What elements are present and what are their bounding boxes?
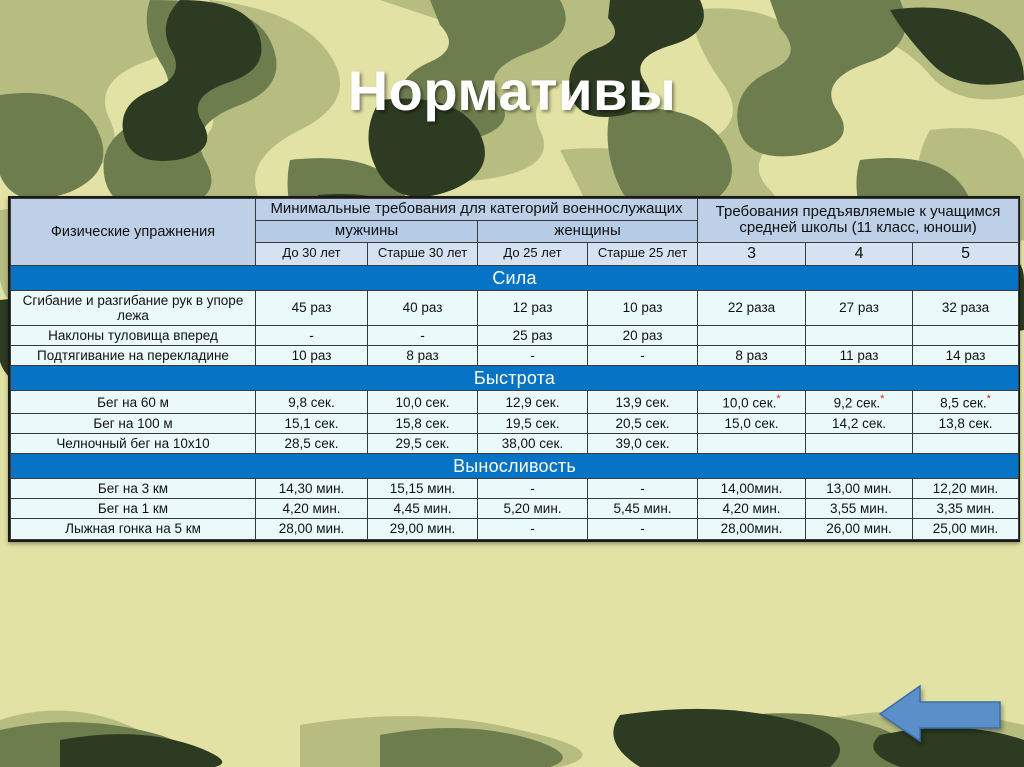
value-text: - — [530, 521, 535, 536]
value-text: 10,0 сек. — [396, 395, 450, 410]
value-cell: 12 раз — [478, 290, 588, 325]
value-text: 13,00 мин. — [826, 481, 892, 496]
value-text: 14 раз — [946, 348, 986, 363]
value-text: 11 раз — [840, 348, 879, 363]
value-text: 12 раз — [513, 300, 553, 315]
value-text: - — [640, 481, 645, 496]
value-text: 8 раз — [406, 348, 438, 363]
exercise-label: Бег на 3 км — [11, 479, 256, 499]
value-cell: 15,0 сек. — [698, 413, 806, 433]
value-cell: 11 раз — [806, 345, 913, 365]
value-cell: 39,0 сек. — [588, 433, 698, 453]
value-cell: 4,20 мин. — [698, 499, 806, 519]
header-age-men-old: Старше 30 лет — [368, 242, 478, 265]
value-text: 25 раз — [513, 328, 553, 343]
value-cell: 14,00мин. — [698, 479, 806, 499]
value-cell: 28,00 мин. — [256, 519, 368, 539]
value-text: 38,00 сек. — [502, 436, 563, 451]
value-text: 14,30 мин. — [279, 481, 345, 496]
value-cell: 25 раз — [478, 325, 588, 345]
value-text: - — [309, 328, 314, 343]
value-cell: 9,2 сек.* — [806, 391, 913, 414]
exercise-label: Бег на 100 м — [11, 413, 256, 433]
value-cell: 28,00мин. — [698, 519, 806, 539]
table-body: СилаСгибание и разгибание рук в упоре ле… — [11, 265, 1019, 539]
value-cell: - — [588, 345, 698, 365]
value-cell: 12,20 мин. — [913, 479, 1019, 499]
value-cell: - — [368, 325, 478, 345]
value-cell: 40 раз — [368, 290, 478, 325]
table-row: Лыжная гонка на 5 км28,00 мин.29,00 мин.… — [11, 519, 1019, 539]
asterisk-marker: * — [987, 393, 991, 405]
value-text: 22 раза — [728, 300, 775, 315]
title-container: Нормативы — [0, 58, 1024, 123]
value-text: 10 раз — [292, 348, 332, 363]
value-text: 15,0 сек. — [725, 416, 779, 431]
left-arrow-icon — [878, 684, 1002, 742]
exercise-label: Лыжная гонка на 5 км — [11, 519, 256, 539]
header-exercises: Физические упражнения — [11, 199, 256, 266]
value-cell: 13,8 сек. — [913, 413, 1019, 433]
value-cell: 15,15 мин. — [368, 479, 478, 499]
value-text: 4,20 мин. — [723, 501, 781, 516]
value-cell-empty — [913, 433, 1019, 453]
exercise-label: Бег на 60 м — [11, 391, 256, 414]
value-text: 19,5 сек. — [506, 416, 560, 431]
value-cell: 8,5 сек.* — [913, 391, 1019, 414]
value-text: - — [530, 481, 535, 496]
header-grade-3: 3 — [698, 242, 806, 265]
value-text: 13,8 сек. — [939, 416, 993, 431]
value-cell: 45 раз — [256, 290, 368, 325]
exercise-label: Бег на 1 км — [11, 499, 256, 519]
value-text: 5,45 мин. — [613, 501, 671, 516]
value-text: 13,9 сек. — [616, 395, 670, 410]
header-sex-women: женщины — [478, 220, 698, 242]
value-cell: 10,0 сек.* — [698, 391, 806, 414]
value-cell: - — [588, 519, 698, 539]
value-text: 10,0 сек. — [722, 396, 776, 411]
value-cell: 14,30 мин. — [256, 479, 368, 499]
value-cell: 13,9 сек. — [588, 391, 698, 414]
value-cell: 3,35 мин. — [913, 499, 1019, 519]
value-text: 14,2 сек. — [832, 416, 886, 431]
value-text: 8 раз — [735, 348, 767, 363]
header-age-men-young: До 30 лет — [256, 242, 368, 265]
header-age-women-young: До 25 лет — [478, 242, 588, 265]
value-cell: 20,5 сек. — [588, 413, 698, 433]
value-cell-empty — [806, 433, 913, 453]
section-title: Выносливость — [11, 454, 1019, 479]
value-cell: 27 раз — [806, 290, 913, 325]
table-row: Бег на 3 км14,30 мин.15,15 мин.--14,00ми… — [11, 479, 1019, 499]
value-cell: 38,00 сек. — [478, 433, 588, 453]
value-cell: - — [256, 325, 368, 345]
value-text: 15,1 сек. — [285, 416, 339, 431]
value-text: 27 раз — [839, 300, 879, 315]
value-text: - — [640, 521, 645, 536]
value-text: 32 раза — [942, 300, 989, 315]
value-text: - — [530, 348, 535, 363]
value-cell: 29,00 мин. — [368, 519, 478, 539]
value-text: 4,45 мин. — [393, 501, 451, 516]
standards-table-container: Физические упражнения Минимальные требов… — [8, 196, 1020, 542]
value-cell: 26,00 мин. — [806, 519, 913, 539]
value-text: 28,5 сек. — [285, 436, 339, 451]
section-band-row: Быстрота — [11, 366, 1019, 391]
value-text: 15,15 мин. — [390, 481, 456, 496]
section-band-row: Сила — [11, 265, 1019, 290]
page-title: Нормативы — [348, 58, 677, 123]
value-text: 12,20 мин. — [933, 481, 999, 496]
header-group-school: Требования предъявляемые к учащимся сред… — [698, 199, 1019, 243]
exercise-label: Челночный бег на 10x10 — [11, 433, 256, 453]
value-cell: - — [478, 479, 588, 499]
header-row-groups: Физические упражнения Минимальные требов… — [11, 199, 1019, 221]
header-grade-5: 5 — [913, 242, 1019, 265]
value-cell: 32 раза — [913, 290, 1019, 325]
table-row: Сгибание и разгибание рук в упоре лежа45… — [11, 290, 1019, 325]
table-row: Наклоны туловища вперед--25 раз20 раз — [11, 325, 1019, 345]
value-cell: - — [588, 479, 698, 499]
table-row: Подтягивание на перекладине10 раз8 раз--… — [11, 345, 1019, 365]
value-text: 26,00 мин. — [826, 521, 892, 536]
value-cell: 15,1 сек. — [256, 413, 368, 433]
value-text: 9,8 сек. — [288, 395, 334, 410]
value-cell: 14,2 сек. — [806, 413, 913, 433]
table-row: Бег на 1 км4,20 мин.4,45 мин.5,20 мин.5,… — [11, 499, 1019, 519]
value-text: 28,00 мин. — [279, 521, 345, 536]
value-text: 12,9 сек. — [506, 395, 560, 410]
table-row: Челночный бег на 10x1028,5 сек.29,5 сек.… — [11, 433, 1019, 453]
table-header: Физические упражнения Минимальные требов… — [11, 199, 1019, 266]
value-text: - — [420, 328, 425, 343]
value-cell: 5,45 мин. — [588, 499, 698, 519]
value-text: 20 раз — [623, 328, 663, 343]
header-age-women-old: Старше 25 лет — [588, 242, 698, 265]
value-cell: 10 раз — [588, 290, 698, 325]
value-text: 45 раз — [292, 300, 332, 315]
value-text: 20,5 сек. — [616, 416, 670, 431]
value-cell: 14 раз — [913, 345, 1019, 365]
value-cell: 29,5 сек. — [368, 433, 478, 453]
value-cell: 25,00 мин. — [913, 519, 1019, 539]
exercise-label: Сгибание и разгибание рук в упоре лежа — [11, 290, 256, 325]
value-cell: 4,20 мин. — [256, 499, 368, 519]
header-grade-4: 4 — [806, 242, 913, 265]
value-cell: - — [478, 519, 588, 539]
value-text: 15,8 сек. — [396, 416, 450, 431]
standards-table: Физические упражнения Минимальные требов… — [10, 198, 1019, 540]
exercise-label: Подтягивание на перекладине — [11, 345, 256, 365]
value-cell: 8 раз — [698, 345, 806, 365]
value-cell: 4,45 мин. — [368, 499, 478, 519]
value-cell: 10 раз — [256, 345, 368, 365]
value-text: 25,00 мин. — [933, 521, 999, 536]
table-row: Бег на 60 м9,8 сек.10,0 сек.12,9 сек.13,… — [11, 391, 1019, 414]
value-cell: 20 раз — [588, 325, 698, 345]
value-cell-empty — [698, 325, 806, 345]
value-text: 29,5 сек. — [396, 436, 450, 451]
section-title: Быстрота — [11, 366, 1019, 391]
value-text: 4,20 мин. — [282, 501, 340, 516]
value-text: 39,0 сек. — [616, 436, 670, 451]
left-arrow-shape — [878, 684, 1002, 742]
value-cell-empty — [698, 433, 806, 453]
asterisk-marker: * — [880, 393, 884, 405]
section-band-row: Выносливость — [11, 454, 1019, 479]
value-text: 28,00мин. — [721, 521, 783, 536]
value-text: 14,00мин. — [721, 481, 783, 496]
value-cell: 9,8 сек. — [256, 391, 368, 414]
value-cell: 15,8 сек. — [368, 413, 478, 433]
value-cell: 8 раз — [368, 345, 478, 365]
value-cell: - — [478, 345, 588, 365]
value-cell: 5,20 мин. — [478, 499, 588, 519]
value-text: 8,5 сек. — [940, 396, 986, 411]
value-cell: 28,5 сек. — [256, 433, 368, 453]
value-cell-empty — [913, 325, 1019, 345]
value-cell: 10,0 сек. — [368, 391, 478, 414]
value-cell: 19,5 сек. — [478, 413, 588, 433]
table-row: Бег на 100 м15,1 сек.15,8 сек.19,5 сек.2… — [11, 413, 1019, 433]
value-text: 5,20 мин. — [503, 501, 561, 516]
value-cell: 12,9 сек. — [478, 391, 588, 414]
value-text: 3,55 мин. — [830, 501, 888, 516]
value-text: 9,2 сек. — [834, 396, 880, 411]
value-text: - — [640, 348, 645, 363]
asterisk-marker: * — [776, 393, 780, 405]
value-cell-empty — [806, 325, 913, 345]
value-cell: 13,00 мин. — [806, 479, 913, 499]
value-text: 10 раз — [623, 300, 663, 315]
value-cell: 22 раза — [698, 290, 806, 325]
header-sex-men: мужчины — [256, 220, 478, 242]
value-cell: 3,55 мин. — [806, 499, 913, 519]
exercise-label: Наклоны туловища вперед — [11, 325, 256, 345]
header-group-military: Минимальные требования для категорий вое… — [256, 199, 698, 221]
value-text: 29,00 мин. — [390, 521, 456, 536]
section-title: Сила — [11, 265, 1019, 290]
value-text: 3,35 мин. — [937, 501, 995, 516]
value-text: 40 раз — [403, 300, 443, 315]
